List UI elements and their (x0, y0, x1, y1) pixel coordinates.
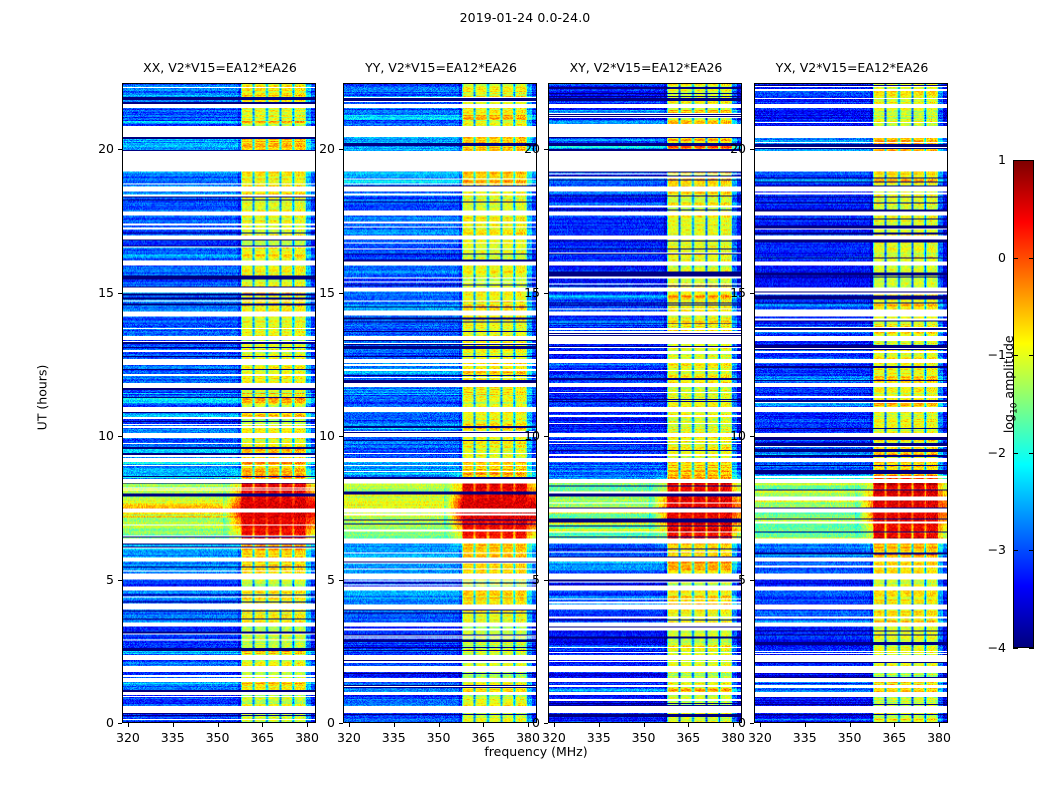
y-tick-label: 0 (506, 715, 540, 730)
colorbar-tickmark (1029, 258, 1034, 259)
colorbar-tickmark (1029, 355, 1034, 356)
colorbar-label-main: log (1001, 414, 1016, 433)
x-tickmark (939, 723, 940, 727)
y-tick-label: 15 (712, 285, 746, 300)
y-tickmark (118, 436, 122, 437)
colorbar-tick-label: −4 (966, 640, 1006, 655)
x-tick-label: 320 (329, 730, 369, 745)
x-tick-label: 350 (198, 730, 238, 745)
colorbar-tickmark (1029, 550, 1034, 551)
y-tickmark (750, 436, 754, 437)
y-tickmark (339, 436, 343, 437)
y-tickmark (118, 293, 122, 294)
x-tick-label: 380 (287, 730, 327, 745)
colorbar-tickmark (1013, 453, 1018, 454)
x-tickmark (760, 723, 761, 727)
y-tick-label: 10 (712, 428, 746, 443)
y-tickmark (339, 293, 343, 294)
colorbar-tick-label: −2 (966, 445, 1006, 460)
y-tick-label: 5 (712, 572, 746, 587)
waterfall-panel-yy[interactable] (343, 83, 537, 723)
y-axis-label: UT (hours) (35, 338, 50, 458)
x-tick-label: 335 (785, 730, 825, 745)
panel-title-xy: XY, V2*V15=EA12*EA26 (548, 60, 744, 78)
colorbar-tickmark (1013, 160, 1018, 161)
colorbar-tick-label: 1 (966, 152, 1006, 167)
colorbar-label: log10 amplitude (1001, 304, 1020, 464)
panel-title-xx: XX, V2*V15=EA12*EA26 (122, 60, 318, 78)
y-tick-label: 20 (506, 141, 540, 156)
colorbar-tick-label: −3 (966, 542, 1006, 557)
x-tick-label: 350 (419, 730, 459, 745)
waterfall-panel-yx[interactable] (754, 83, 948, 723)
y-tick-label: 20 (301, 141, 335, 156)
panel-title-yx: YX, V2*V15=EA12*EA26 (754, 60, 950, 78)
x-tickmark (349, 723, 350, 727)
x-tick-label: 365 (463, 730, 503, 745)
y-tickmark (750, 723, 754, 724)
y-tick-label: 15 (301, 285, 335, 300)
x-tickmark (439, 723, 440, 727)
y-tick-label: 20 (712, 141, 746, 156)
y-tick-label: 15 (80, 285, 114, 300)
waterfall-image-yy (344, 84, 536, 722)
x-axis-label: frequency (MHz) (122, 744, 950, 759)
x-tickmark (688, 723, 689, 727)
x-tickmark (894, 723, 895, 727)
colorbar-tickmark (1013, 258, 1018, 259)
panel-title-yy: YY, V2*V15=EA12*EA26 (343, 60, 539, 78)
x-tickmark (644, 723, 645, 727)
y-tickmark (339, 723, 343, 724)
y-tick-label: 5 (301, 572, 335, 587)
colorbar-tickmark (1013, 648, 1018, 649)
y-tickmark (750, 293, 754, 294)
y-tickmark (544, 723, 548, 724)
y-tickmark (544, 436, 548, 437)
y-tickmark (544, 149, 548, 150)
y-tick-label: 5 (506, 572, 540, 587)
x-tick-label: 350 (830, 730, 870, 745)
x-tickmark (599, 723, 600, 727)
y-tick-label: 0 (80, 715, 114, 730)
x-tickmark (128, 723, 129, 727)
y-tickmark (544, 580, 548, 581)
figure-title: 2019-01-24 0.0-24.0 (0, 10, 1050, 25)
y-tick-label: 0 (712, 715, 746, 730)
x-tickmark (554, 723, 555, 727)
x-tick-label: 365 (668, 730, 708, 745)
figure-canvas: 2019-01-24 0.0-24.0 XX, V2*V15=EA12*EA26… (0, 0, 1050, 800)
y-tickmark (750, 580, 754, 581)
colorbar-tickmark (1013, 355, 1018, 356)
colorbar-label-sub: 10 (1009, 403, 1019, 414)
colorbar-tickmark (1029, 648, 1034, 649)
x-tickmark (173, 723, 174, 727)
waterfall-image-xy (549, 84, 741, 722)
y-tick-label: 15 (506, 285, 540, 300)
x-tick-label: 380 (919, 730, 959, 745)
colorbar-tick-label: −1 (966, 347, 1006, 362)
y-tickmark (750, 149, 754, 150)
colorbar-tickmark (1029, 160, 1034, 161)
x-tickmark (850, 723, 851, 727)
y-tick-label: 5 (80, 572, 114, 587)
x-tick-label: 335 (153, 730, 193, 745)
y-tickmark (544, 293, 548, 294)
x-tickmark (218, 723, 219, 727)
y-tick-label: 10 (301, 428, 335, 443)
waterfall-image-xx (123, 84, 315, 722)
x-tickmark (483, 723, 484, 727)
waterfall-panel-xx[interactable] (122, 83, 316, 723)
y-tick-label: 20 (80, 141, 114, 156)
x-tick-label: 320 (740, 730, 780, 745)
x-tickmark (805, 723, 806, 727)
y-tick-label: 10 (80, 428, 114, 443)
colorbar-tickmark (1029, 453, 1034, 454)
y-tickmark (118, 149, 122, 150)
colorbar-tick-label: 0 (966, 250, 1006, 265)
y-tickmark (339, 149, 343, 150)
y-tickmark (339, 580, 343, 581)
x-tick-label: 350 (624, 730, 664, 745)
x-tick-label: 320 (108, 730, 148, 745)
colorbar-tickmark (1013, 550, 1018, 551)
y-tick-label: 10 (506, 428, 540, 443)
x-tick-label: 335 (374, 730, 414, 745)
x-tickmark (262, 723, 263, 727)
colorbar-label-tail: amplitude (1001, 335, 1016, 402)
y-tickmark (118, 723, 122, 724)
x-tickmark (394, 723, 395, 727)
x-tick-label: 335 (579, 730, 619, 745)
waterfall-panel-xy[interactable] (548, 83, 742, 723)
x-tick-label: 365 (242, 730, 282, 745)
x-tick-label: 365 (874, 730, 914, 745)
y-tickmark (118, 580, 122, 581)
y-tick-label: 0 (301, 715, 335, 730)
x-tick-label: 320 (534, 730, 574, 745)
waterfall-image-yx (755, 84, 947, 722)
